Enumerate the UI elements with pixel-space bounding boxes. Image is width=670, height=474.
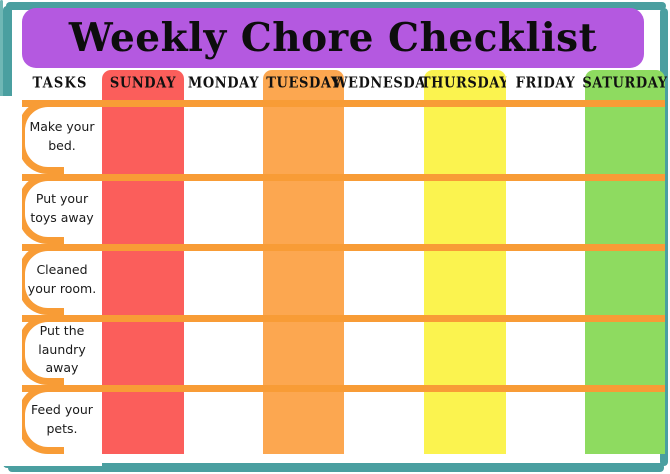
chore-cell[interactable] <box>424 107 506 174</box>
column-header-label: TUESDAY <box>266 75 341 92</box>
chore-cell[interactable] <box>506 251 585 315</box>
chore-cell[interactable] <box>424 181 506 244</box>
chore-cell[interactable] <box>506 392 585 454</box>
chore-cell[interactable] <box>263 181 344 244</box>
chore-cell[interactable] <box>263 251 344 315</box>
task-label: Make your bed. <box>22 100 102 174</box>
title-banner: Weekly Chore Checklist <box>22 8 644 68</box>
column-header-label: MONDAY <box>188 75 259 92</box>
page-title: Weekly Chore Checklist <box>69 19 597 58</box>
chore-cell[interactable] <box>263 322 344 385</box>
chore-cell[interactable] <box>184 322 263 385</box>
chore-cell[interactable] <box>102 107 184 174</box>
task-label: Put the laundry away <box>22 315 102 385</box>
chore-cell[interactable] <box>263 107 344 174</box>
task-label: Put your toys away <box>22 174 102 244</box>
column-header-label: SATURDAY <box>582 75 667 92</box>
chore-cell[interactable] <box>506 107 585 174</box>
chore-cell[interactable] <box>102 392 184 454</box>
chore-cell[interactable] <box>506 181 585 244</box>
chore-cell[interactable] <box>184 251 263 315</box>
column-header-wednesday[interactable]: WEDNESDAY <box>344 70 424 96</box>
column-header-thursday[interactable]: THURSDAY <box>424 70 506 96</box>
chore-cell[interactable] <box>506 322 585 385</box>
column-header-friday[interactable]: FRIDAY <box>506 70 585 96</box>
chore-cell[interactable] <box>585 251 665 315</box>
column-header-monday[interactable]: MONDAY <box>184 70 263 96</box>
chore-cell[interactable] <box>263 392 344 454</box>
chore-cell[interactable] <box>585 392 665 454</box>
chore-cell[interactable] <box>344 322 424 385</box>
column-header-label: TASKS <box>32 75 87 92</box>
chore-cell[interactable] <box>424 322 506 385</box>
chore-cell[interactable] <box>102 322 184 385</box>
task-label: Cleaned your room. <box>22 244 102 315</box>
chore-cell[interactable] <box>424 392 506 454</box>
left-white-gutter <box>14 70 22 466</box>
chore-grid: Make your bed.Put your toys awayCleaned … <box>0 70 670 466</box>
column-header-tasks[interactable]: TASKS <box>18 70 102 96</box>
column-header-label: THURSDAY <box>421 75 509 92</box>
column-header-label: WEDNESDAY <box>333 75 435 92</box>
chore-cell[interactable] <box>344 107 424 174</box>
chore-cell[interactable] <box>102 181 184 244</box>
chore-cell[interactable] <box>344 181 424 244</box>
column-header-label: SUNDAY <box>110 75 176 92</box>
task-label: Feed your pets. <box>22 385 102 454</box>
chore-cell[interactable] <box>184 392 263 454</box>
column-header-saturday[interactable]: SATURDAY <box>585 70 665 96</box>
chore-cell[interactable] <box>184 181 263 244</box>
chore-cell[interactable] <box>184 107 263 174</box>
chore-cell[interactable] <box>344 251 424 315</box>
chore-cell[interactable] <box>585 181 665 244</box>
chore-cell[interactable] <box>424 251 506 315</box>
chore-cell[interactable] <box>344 392 424 454</box>
chore-cell[interactable] <box>102 251 184 315</box>
column-header-sunday[interactable]: SUNDAY <box>102 70 184 96</box>
column-header-label: FRIDAY <box>516 75 576 92</box>
chore-cell[interactable] <box>585 107 665 174</box>
chore-cell[interactable] <box>585 322 665 385</box>
chore-chart-page: Weekly Chore Checklist Make your bed.Put… <box>0 0 670 474</box>
